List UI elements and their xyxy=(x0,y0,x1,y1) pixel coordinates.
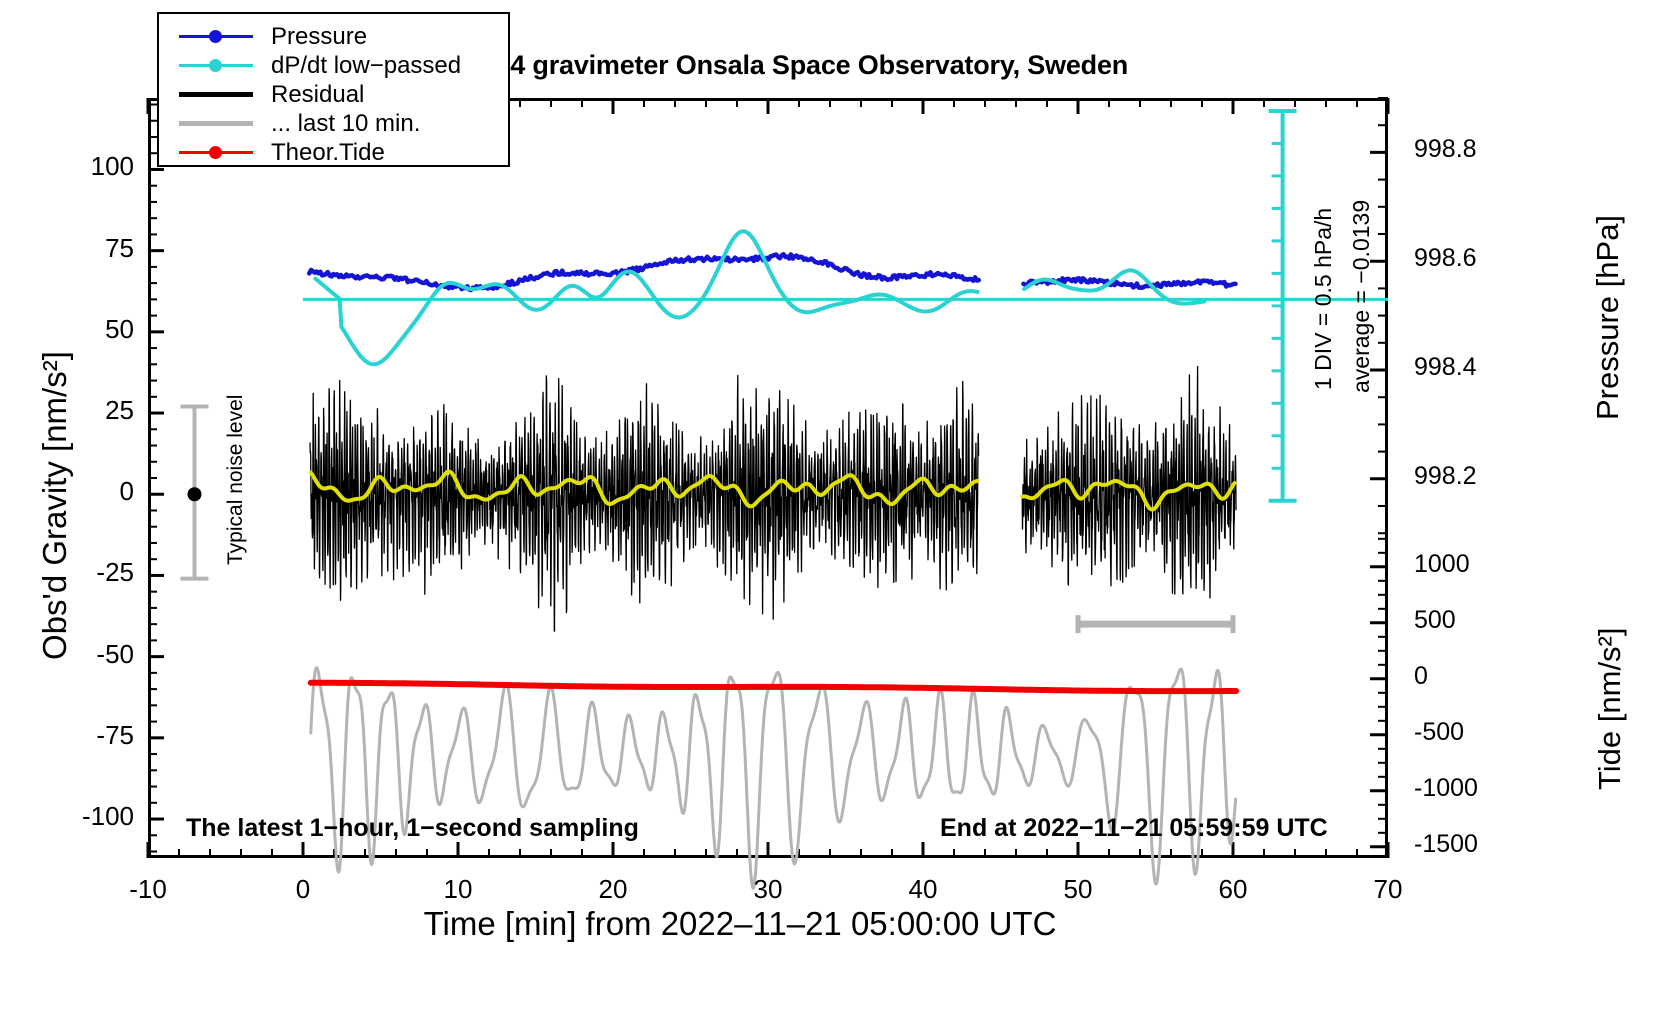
dpdt-div-label: 1 DIV = 0.5 hPa/h xyxy=(1310,208,1337,390)
legend-item-residual[interactable]: Residual xyxy=(159,80,508,109)
sampling-note: The latest 1−hour, 1−second sampling xyxy=(186,814,639,843)
legend-label-residual: Residual xyxy=(271,81,364,109)
y-tick-left--100: -100 xyxy=(12,801,134,832)
legend-swatch-tide xyxy=(173,138,259,167)
x-tick-60: 60 xyxy=(1173,874,1293,905)
y-tick-pressure-998.6: 998.6 xyxy=(1414,244,1544,273)
x-tick-40: 40 xyxy=(863,874,983,905)
y-axis-label-pressure: Pressure [hPa] xyxy=(1590,215,1626,420)
legend-swatch-pressure xyxy=(173,22,259,51)
y-tick-left-25: 25 xyxy=(12,395,134,426)
y-tick-tide-0: 0 xyxy=(1414,662,1564,691)
y-tick-tide--500: -500 xyxy=(1414,718,1564,747)
x-tick-30: 30 xyxy=(708,874,828,905)
y-tick-tide--1500: -1500 xyxy=(1414,830,1564,859)
legend-item-tide[interactable]: Theor.Tide xyxy=(159,138,508,167)
y-tick-pressure-998.4: 998.4 xyxy=(1414,353,1544,382)
y-axis-label-tide-text: Tide [nm/s²] xyxy=(1592,628,1627,791)
y-tick-left-100: 100 xyxy=(12,151,134,182)
legend-swatch-last10 xyxy=(173,109,259,138)
plot-area xyxy=(148,98,1388,858)
y-axis-label-tide: Tide [nm/s²] xyxy=(1592,628,1628,791)
typical-noise-level-label: Typical noise level xyxy=(224,395,248,565)
y-tick-left--25: -25 xyxy=(12,557,134,588)
y-tick-pressure-998.8: 998.8 xyxy=(1414,135,1544,164)
legend-item-pressure[interactable]: Pressure xyxy=(159,22,508,51)
legend-label-tide: Theor.Tide xyxy=(271,139,385,167)
y-tick-tide-1000: 1000 xyxy=(1414,550,1564,579)
y-axis-label-pressure-text: Pressure [hPa] xyxy=(1590,215,1625,420)
y-tick-tide--1000: -1000 xyxy=(1414,774,1564,803)
legend-item-last10[interactable]: ... last 10 min. xyxy=(159,109,508,138)
legend-label-pressure: Pressure xyxy=(271,23,367,51)
x-tick-0: 0 xyxy=(243,874,363,905)
y-tick-left-0: 0 xyxy=(12,476,134,507)
legend-swatch-dpdt xyxy=(173,51,259,80)
legend-swatch-residual xyxy=(173,80,259,109)
x-tick-50: 50 xyxy=(1018,874,1138,905)
y-tick-left--75: -75 xyxy=(12,720,134,751)
x-axis-label: Time [min] from 2022–11–21 05:00:00 UTC xyxy=(0,905,1480,943)
y-tick-left-50: 50 xyxy=(12,314,134,345)
legend[interactable]: Pressure dP/dt low−passed Residual ... l… xyxy=(157,12,510,167)
y-tick-left--50: -50 xyxy=(12,639,134,670)
y-tick-tide-500: 500 xyxy=(1414,606,1564,635)
x-tick-20: 20 xyxy=(553,874,673,905)
legend-item-dpdt[interactable]: dP/dt low−passed xyxy=(159,51,508,80)
dpdt-average-label: average = −0.0139 xyxy=(1348,200,1375,393)
legend-label-dpdt: dP/dt low−passed xyxy=(271,52,461,80)
x-tick--10: -10 xyxy=(88,874,208,905)
y-tick-left-75: 75 xyxy=(12,233,134,264)
x-tick-70: 70 xyxy=(1328,874,1448,905)
legend-label-last10: ... last 10 min. xyxy=(271,110,420,138)
y-tick-pressure-998.2: 998.2 xyxy=(1414,462,1544,491)
end-time-note: End at 2022−11−21 05:59:59 UTC xyxy=(940,814,1328,843)
x-tick-10: 10 xyxy=(398,874,518,905)
